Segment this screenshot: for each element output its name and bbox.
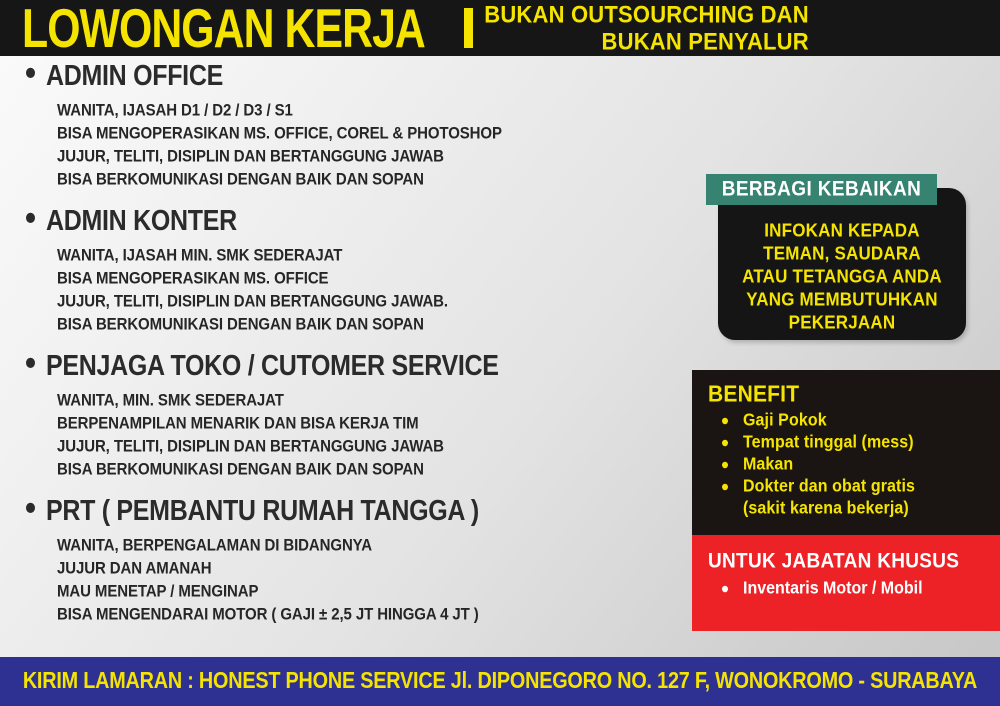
requirement-item: MAU MENETAP / MENGINAP (57, 579, 676, 605)
job-vacancy-poster: LOWONGAN KERJA BUKAN OUTSOURCHING DAN BU… (0, 0, 1000, 706)
requirement-item: JUJUR, TELITI, DISIPLIN DAN BERTANGGUNG … (57, 434, 676, 460)
job-requirements: WANITA, BERPENGALAMAN DI BIDANGNYA JUJUR… (57, 534, 676, 626)
job-title-row: PENJAGA TOKO / CUTOMER SERVICE (26, 349, 676, 384)
job-entry: PRT ( PEMBANTU RUMAH TANGGA ) WANITA, BE… (26, 498, 676, 626)
share-kindness-card: BERBAGI KEBAIKAN INFOKAN KEPADA TEMAN, S… (718, 188, 966, 340)
share-body-line: ATAU TETANGGA ANDA (718, 264, 966, 289)
requirement-item: BISA MENGOPERASIKAN MS. OFFICE, COREL & … (57, 121, 676, 147)
benefit-item: Gaji Pokok (718, 409, 1000, 433)
tagline-line-2: BUKAN PENYALUR (484, 28, 809, 55)
share-body-line: PEKERJAAN (718, 310, 966, 335)
job-title-row: ADMIN OFFICE (26, 59, 676, 94)
benefit-list: Gaji Pokok Tempat tinggal (mess) Makan D… (718, 410, 1000, 520)
headline-separator-bar (464, 8, 473, 48)
requirement-item: BISA BERKOMUNIKASI DENGAN BAIK DAN SOPAN (57, 167, 676, 193)
requirement-item: BERPENAMPILAN MENARIK DAN BISA KERJA TIM (57, 411, 676, 437)
share-body-line: INFOKAN KEPADA (718, 218, 966, 243)
requirement-item: WANITA, MIN. SMK SEDERAJAT (57, 388, 676, 414)
share-card-ribbon: BERBAGI KEBAIKAN (706, 174, 937, 205)
job-entry: ADMIN OFFICE WANITA, IJASAH D1 / D2 / D3… (26, 63, 676, 191)
job-title-row: ADMIN KONTER (26, 204, 676, 239)
bullet-icon (26, 213, 35, 223)
benefit-item: Tempat tinggal (mess) (718, 431, 1000, 455)
requirement-item: WANITA, IJASAH MIN. SMK SEDERAJAT (57, 243, 676, 269)
benefit-item: Dokter dan obat gratis (718, 475, 1000, 499)
benefit-item-continuation: (sakit karena bekerja) (718, 497, 1000, 521)
job-entry: PENJAGA TOKO / CUTOMER SERVICE WANITA, M… (26, 353, 676, 481)
requirement-item: JUJUR DAN AMANAH (57, 556, 676, 582)
job-title: PENJAGA TOKO / CUTOMER SERVICE (46, 349, 499, 384)
job-entry: ADMIN KONTER WANITA, IJASAH MIN. SMK SED… (26, 208, 676, 336)
tagline-line-1: BUKAN OUTSOURCHING DAN (484, 1, 809, 28)
requirement-item: JUJUR, TELITI, DISIPLIN DAN BERTANGGUNG … (57, 144, 676, 170)
special-position-title: UNTUK JABATAN KHUSUS (708, 550, 1000, 575)
poster-footer: KIRIM LAMARAN : HONEST PHONE SERVICE Jl.… (0, 657, 1000, 706)
job-requirements: WANITA, IJASAH MIN. SMK SEDERAJAT BISA M… (57, 244, 676, 336)
requirement-item: WANITA, IJASAH D1 / D2 / D3 / S1 (57, 98, 676, 124)
job-title: ADMIN OFFICE (46, 59, 223, 94)
benefit-panel: BENEFIT Gaji Pokok Tempat tinggal (mess)… (692, 370, 1000, 535)
share-body-line: YANG MEMBUTUHKAN (718, 287, 966, 312)
job-listings: ADMIN OFFICE WANITA, IJASAH D1 / D2 / D3… (26, 63, 676, 626)
job-requirements: WANITA, MIN. SMK SEDERAJAT BERPENAMPILAN… (57, 389, 676, 481)
special-position-panel: UNTUK JABATAN KHUSUS Inventaris Motor / … (692, 535, 1000, 631)
requirement-item: BISA MENGOPERASIKAN MS. OFFICE (57, 266, 676, 292)
requirement-item: WANITA, BERPENGALAMAN DI BIDANGNYA (57, 533, 676, 559)
bullet-icon (26, 68, 35, 78)
poster-headline: LOWONGAN KERJA (22, 1, 425, 55)
requirement-item: BISA MENGENDARAI MOTOR ( GAJI ± 2,5 JT H… (57, 602, 676, 628)
job-title: PRT ( PEMBANTU RUMAH TANGGA ) (46, 494, 479, 529)
bullet-icon (26, 358, 35, 368)
poster-header: LOWONGAN KERJA BUKAN OUTSOURCHING DAN BU… (0, 0, 1000, 56)
benefit-title: BENEFIT (708, 383, 1000, 407)
bullet-icon (26, 503, 35, 513)
job-title-row: PRT ( PEMBANTU RUMAH TANGGA ) (26, 494, 676, 529)
requirement-item: JUJUR, TELITI, DISIPLIN DAN BERTANGGUNG … (57, 289, 676, 315)
application-address: KIRIM LAMARAN : HONEST PHONE SERVICE Jl.… (23, 668, 977, 694)
share-card-title: BERBAGI KEBAIKAN (722, 177, 922, 202)
requirement-item: BISA BERKOMUNIKASI DENGAN BAIK DAN SOPAN (57, 457, 676, 483)
special-position-list: Inventaris Motor / Mobil (718, 578, 1000, 599)
job-title: ADMIN KONTER (46, 204, 237, 239)
share-body-line: TEMAN, SAUDARA (718, 241, 966, 266)
share-card-body: INFOKAN KEPADA TEMAN, SAUDARA ATAU TETAN… (718, 219, 966, 334)
requirement-item: BISA BERKOMUNIKASI DENGAN BAIK DAN SOPAN (57, 312, 676, 338)
benefit-item: Makan (718, 453, 1000, 477)
job-requirements: WANITA, IJASAH D1 / D2 / D3 / S1 BISA ME… (57, 99, 676, 191)
special-position-item: Inventaris Motor / Mobil (718, 577, 1000, 600)
poster-tagline: BUKAN OUTSOURCHING DAN BUKAN PENYALUR (484, 1, 809, 55)
